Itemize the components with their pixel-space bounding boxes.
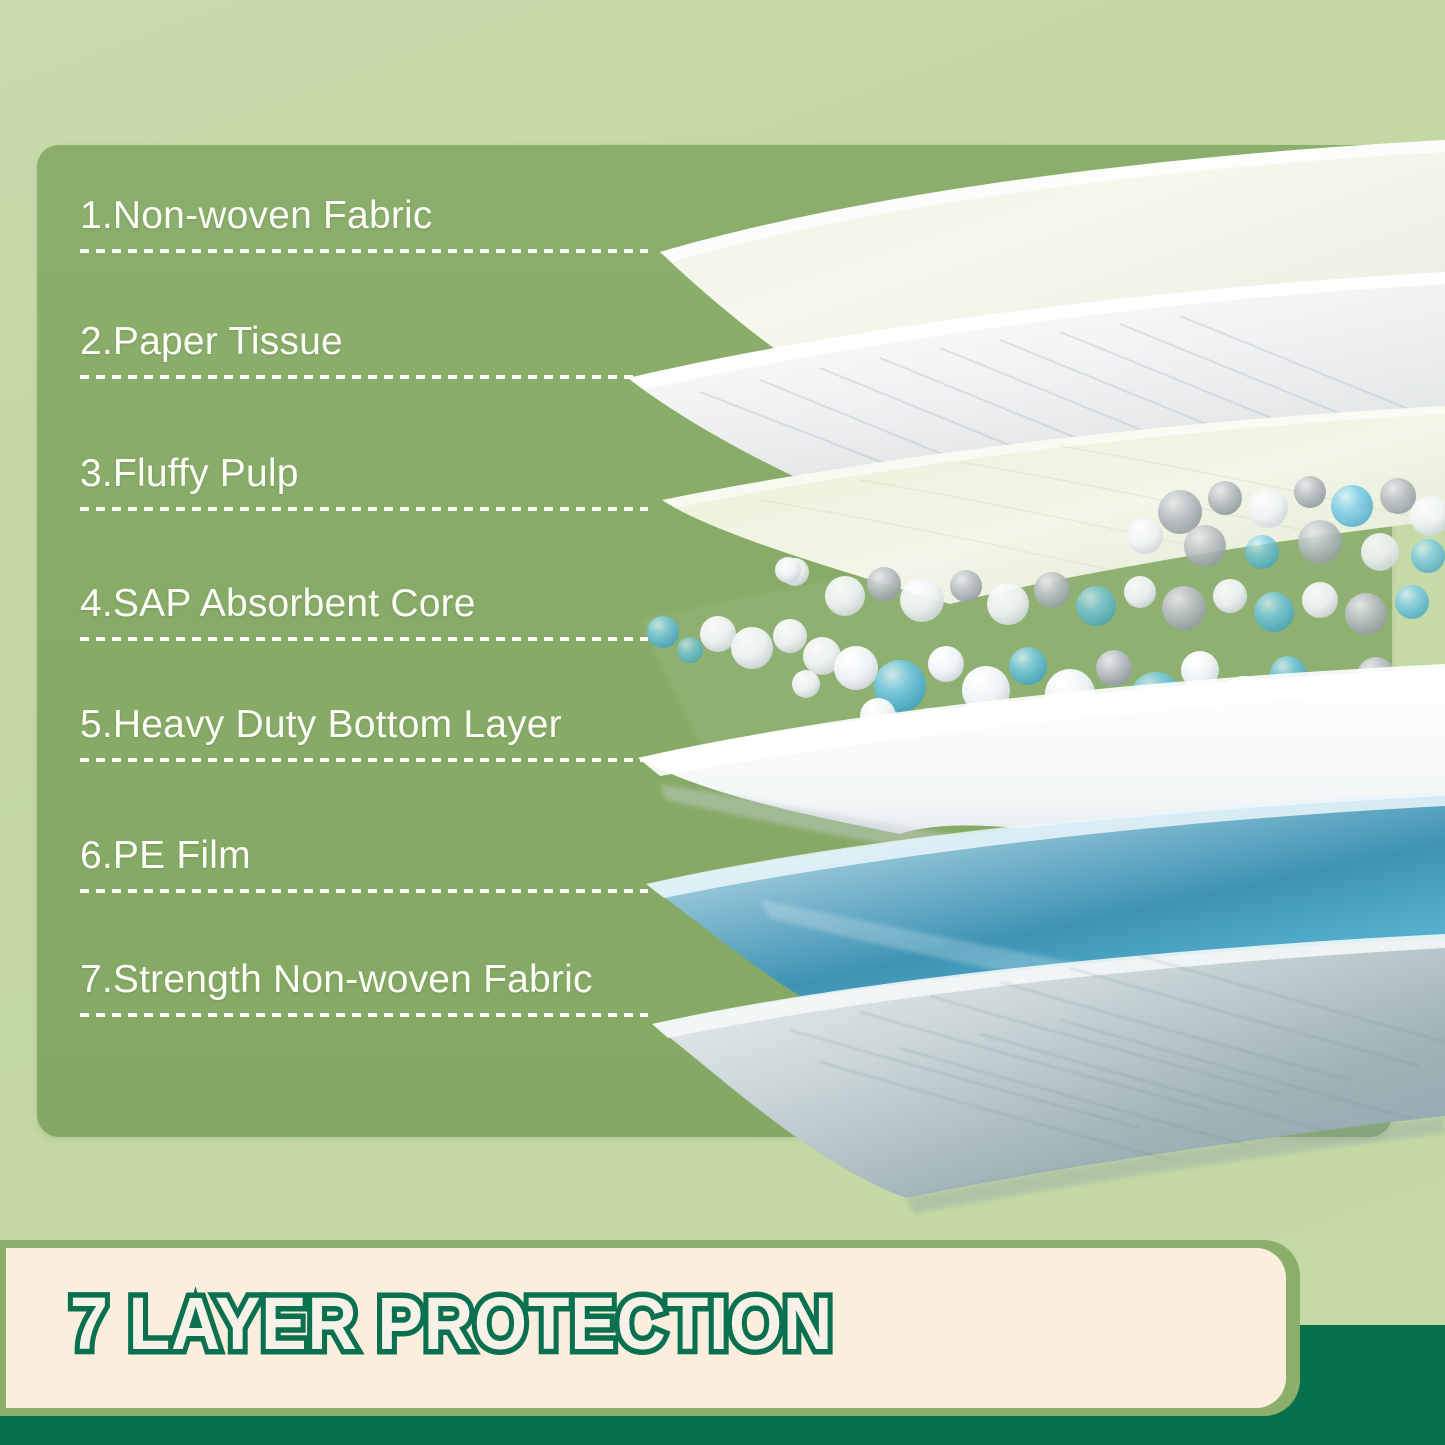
layer-label-7-text: 7.Strength Non-woven Fabric: [80, 960, 650, 999]
layer-label-7-rule: [80, 1013, 648, 1017]
layer-label-1-rule: [80, 249, 648, 253]
layer-label-2-text: 2.Paper Tissue: [80, 322, 650, 361]
layer-label-1: 1.Non-woven Fabric: [80, 196, 650, 253]
layer-label-5-rule: [80, 758, 648, 762]
layer-label-7: 7.Strength Non-woven Fabric: [80, 960, 650, 1017]
layer-label-6-rule: [80, 889, 648, 893]
layer-label-1-text: 1.Non-woven Fabric: [80, 196, 650, 235]
layer-label-4-rule: [80, 637, 648, 641]
layer-label-5: 5.Heavy Duty Bottom Layer: [80, 705, 650, 762]
infographic-canvas: 1.Non-woven Fabric 2.Paper Tissue 3.Fluf…: [0, 0, 1445, 1445]
layer-label-4: 4.SAP Absorbent Core: [80, 584, 650, 641]
layer-label-6: 6.PE Film: [80, 836, 650, 893]
banner-title: 7 LAYER PROTECTION: [70, 1287, 833, 1361]
layer-label-6-text: 6.PE Film: [80, 836, 650, 875]
layer-label-5-text: 5.Heavy Duty Bottom Layer: [80, 705, 650, 744]
layer-label-4-text: 4.SAP Absorbent Core: [80, 584, 650, 623]
layer-label-2: 2.Paper Tissue: [80, 322, 650, 379]
layer-label-3-text: 3.Fluffy Pulp: [80, 454, 650, 493]
layer-label-2-rule: [80, 375, 648, 379]
layer-label-3: 3.Fluffy Pulp: [80, 454, 650, 511]
layer-label-list: 1.Non-woven Fabric 2.Paper Tissue 3.Fluf…: [0, 0, 1445, 1445]
layer-label-3-rule: [80, 507, 648, 511]
